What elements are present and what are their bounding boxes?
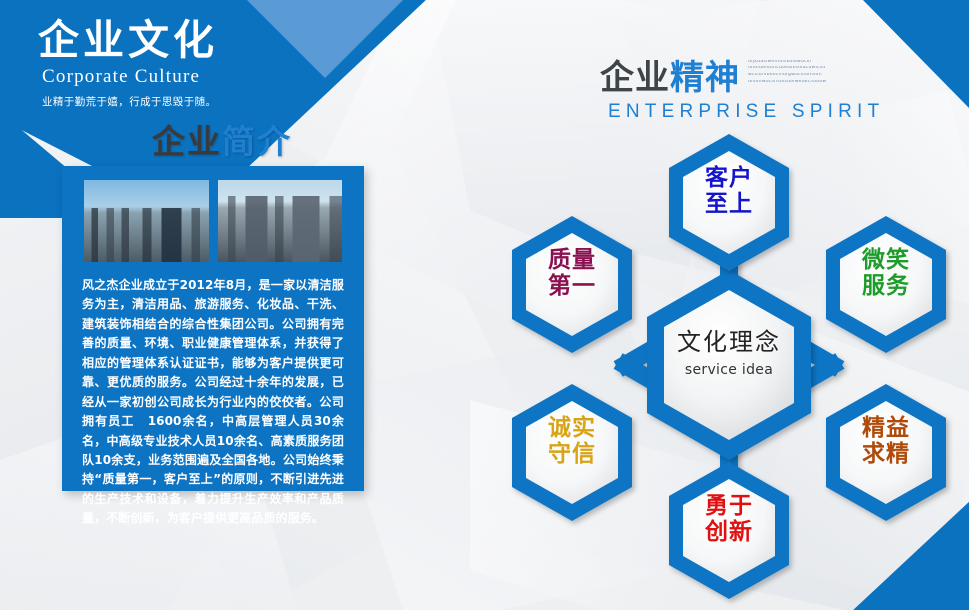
- decorative-microtext-line-4: dfsdhwocisfsdisdoiwedkcfsdoiw: [748, 80, 840, 85]
- corporate-culture-subtitle: 业精于勤荒于嬉，行成于思毁于随。: [42, 94, 218, 109]
- company-intro-title: 企业简介: [152, 115, 292, 163]
- company-intro-title-part1: 企业: [152, 122, 222, 161]
- decorative-microtext-block: dfjkdasiwehfdiskdiewuckl dhdfueiduficuoe…: [748, 52, 840, 92]
- decorative-microtext-line-1: dfjkdasiwehfdiskdiewuckl: [748, 60, 840, 65]
- hex-node-excellence[interactable]: [826, 384, 946, 521]
- company-intro-title-part2: 简介: [222, 122, 292, 161]
- hexagon-diagram-svg: [490, 120, 969, 610]
- hex-node-innovation[interactable]: [669, 462, 789, 599]
- decorative-microtext-line-3: wcsiufvbeocnidfgwocsidfhsdh: [748, 73, 840, 78]
- enterprise-spirit-title-cn: 企业精神: [600, 61, 740, 95]
- hex-node-customer-first[interactable]: [669, 134, 789, 271]
- hex-node-quality-first[interactable]: [512, 216, 632, 353]
- enterprise-spirit-header: 企业精神 dfjkdasiwehfdiskdiewuckl dhdfueiduf…: [600, 52, 884, 123]
- culture-hexagon-diagram: 客户 至上 微笑 服务 精益 求精 勇于 创新 诚实 守信 质量 第一 文化理念…: [490, 120, 969, 610]
- decorative-microtext-line-2: dhdfueiduficuoealksdiacuwicsd: [748, 66, 840, 71]
- company-intro-body: 风之杰企业成立于2012年8月，是一家以清洁服务为主，清洁用品、旅游服务、化妆品…: [62, 262, 364, 529]
- hex-node-integrity[interactable]: [512, 384, 632, 521]
- slide-canvas: 企业文化 Corporate Culture 业精于勤荒于嬉，行成于思毁于随。 …: [0, 0, 969, 610]
- enterprise-spirit-title-part1: 企业: [600, 58, 670, 98]
- company-intro-card: 风之杰企业成立于2012年8月，是一家以清洁服务为主，清洁用品、旅游服务、化妆品…: [62, 166, 364, 491]
- hex-node-center[interactable]: [647, 270, 811, 460]
- corporate-culture-title-cn: 企业文化: [38, 18, 218, 64]
- corporate-culture-header: 企业文化 Corporate Culture 业精于勤荒于嬉，行成于思毁于随。: [38, 18, 218, 109]
- corporate-culture-title-en: Corporate Culture: [42, 66, 218, 88]
- photo-strip: [62, 166, 364, 262]
- city-towers-photo-2: [218, 180, 343, 262]
- enterprise-spirit-title-part2: 精神: [670, 58, 740, 98]
- hex-node-smile-service[interactable]: [826, 216, 946, 353]
- city-skyline-photo-1: [84, 180, 209, 262]
